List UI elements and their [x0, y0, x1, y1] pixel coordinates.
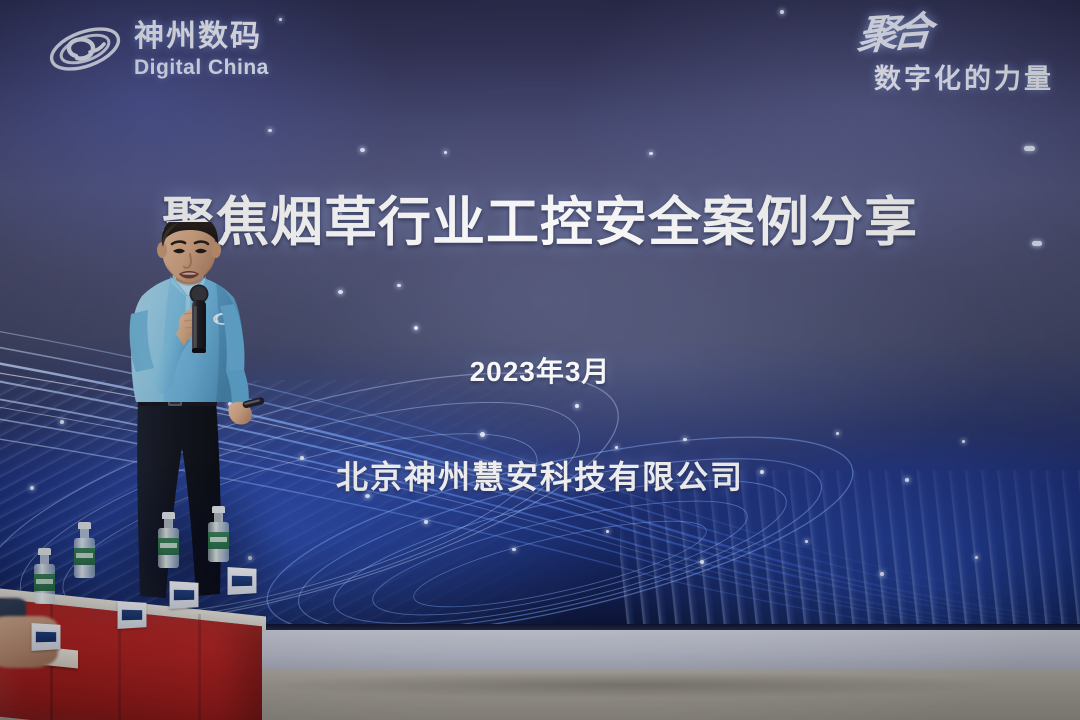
- campaign-subtitle: 数字化的力量: [858, 57, 1054, 96]
- campaign-mark: 聚合 数字化的力量: [858, 14, 1054, 96]
- digital-china-swirl-logo-icon: [46, 18, 124, 82]
- name-tent-card: [32, 624, 62, 650]
- campaign-script-text: 聚合: [856, 12, 928, 57]
- foreground-head-table: [0, 560, 290, 720]
- name-tent-card: [118, 602, 148, 628]
- bottle-body: [158, 528, 179, 568]
- name-tent-card: [170, 582, 200, 608]
- digital-china-logo: 神州数码 Digital China: [46, 18, 269, 82]
- bottle-cap: [162, 512, 175, 519]
- water-bottle: [208, 506, 229, 562]
- bottle-cap: [38, 548, 51, 555]
- bottle-neck: [214, 513, 223, 522]
- brand-name-en: Digital China: [134, 57, 269, 78]
- bottle-label: [158, 538, 179, 555]
- bottle-neck: [80, 529, 89, 538]
- bottle-label: [208, 532, 229, 549]
- bottle-label: [74, 548, 95, 565]
- bottle-cap: [212, 506, 225, 513]
- bottle-body: [208, 522, 229, 562]
- handheld-microphone: [190, 285, 209, 354]
- brand-name-cn: 神州数码: [134, 22, 269, 52]
- bottle-body: [74, 538, 95, 578]
- floor-shadow: [250, 672, 1010, 698]
- conference-presentation-photo: 神州数码 Digital China 聚合 数字化的力量 聚焦烟草行业工控安全案…: [0, 0, 1080, 720]
- water-bottle: [158, 512, 179, 568]
- bottle-label: [34, 574, 55, 591]
- bottle-body: [34, 564, 55, 604]
- water-bottle: [34, 548, 55, 604]
- water-bottle: [74, 522, 95, 578]
- bottle-neck: [40, 555, 49, 564]
- table-skirt-fold: [198, 614, 201, 720]
- bottle-cap: [78, 522, 91, 529]
- name-tent-card: [228, 568, 258, 594]
- table-skirt-fold: [118, 614, 121, 720]
- bottle-neck: [164, 519, 173, 528]
